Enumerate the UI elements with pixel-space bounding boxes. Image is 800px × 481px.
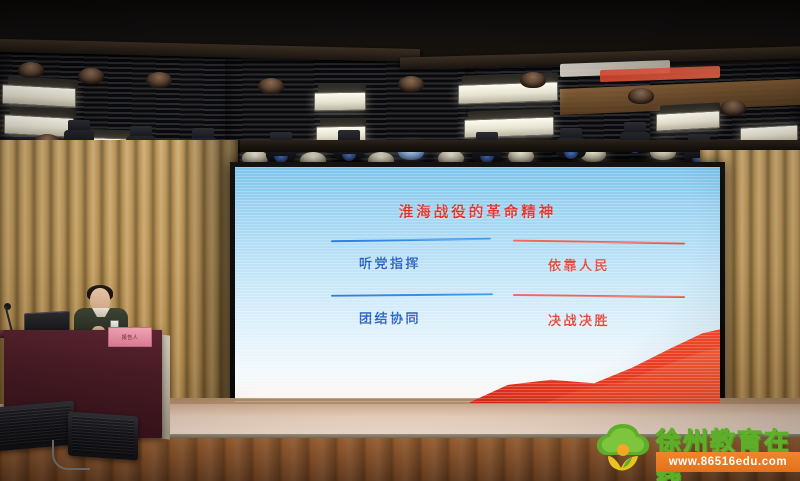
watermark-url-bar: www.86516edu.com (656, 452, 800, 472)
podium-nameplate: 报告人 (108, 327, 152, 347)
divider-line-top-left (331, 238, 491, 243)
divider-line-bottom-right (513, 294, 685, 298)
presentation-slide[interactable]: 淮海战役的革命精神 听党指挥 依靠人民 团结协同 决战决胜 (235, 167, 720, 403)
wash-light (656, 110, 720, 131)
downlight-can (146, 72, 172, 88)
auditorium-photo: 淮海战役的革命精神 听党指挥 依靠人民 团结协同 决战决胜 报告人 (0, 0, 800, 481)
downlight-can (628, 88, 654, 104)
downlight-can (78, 68, 104, 84)
led-screen-frame: 淮海战役的革命精神 听党指挥 依靠人民 团结协同 决战决胜 (230, 162, 725, 408)
divider-line-top-right (513, 239, 685, 244)
audio-cable (52, 440, 90, 470)
slide-quadrant-top-right: 依靠人民 (548, 255, 610, 274)
slide-title: 淮海战役的革命精神 (235, 201, 720, 222)
watermark-url: www.86516edu.com (669, 456, 787, 468)
divider-line-bottom-left (331, 293, 493, 297)
downlight-can (520, 72, 546, 88)
wash-light (2, 84, 76, 108)
downlight-can (720, 100, 746, 116)
ceiling-dark-band (0, 0, 800, 40)
slide-quadrant-bottom-right: 决战决胜 (548, 310, 610, 329)
downlight-can (258, 78, 284, 94)
green-tree-logo (594, 420, 652, 476)
slide-quadrant-bottom-left: 团结协同 (359, 308, 421, 327)
wash-light (314, 92, 366, 112)
downlight-can (398, 76, 424, 92)
watermark: 徐州教育在线 www.86516edu.com (594, 414, 800, 481)
downlight-can (18, 62, 44, 78)
slide-quadrant-top-left: 听党指挥 (359, 253, 421, 272)
